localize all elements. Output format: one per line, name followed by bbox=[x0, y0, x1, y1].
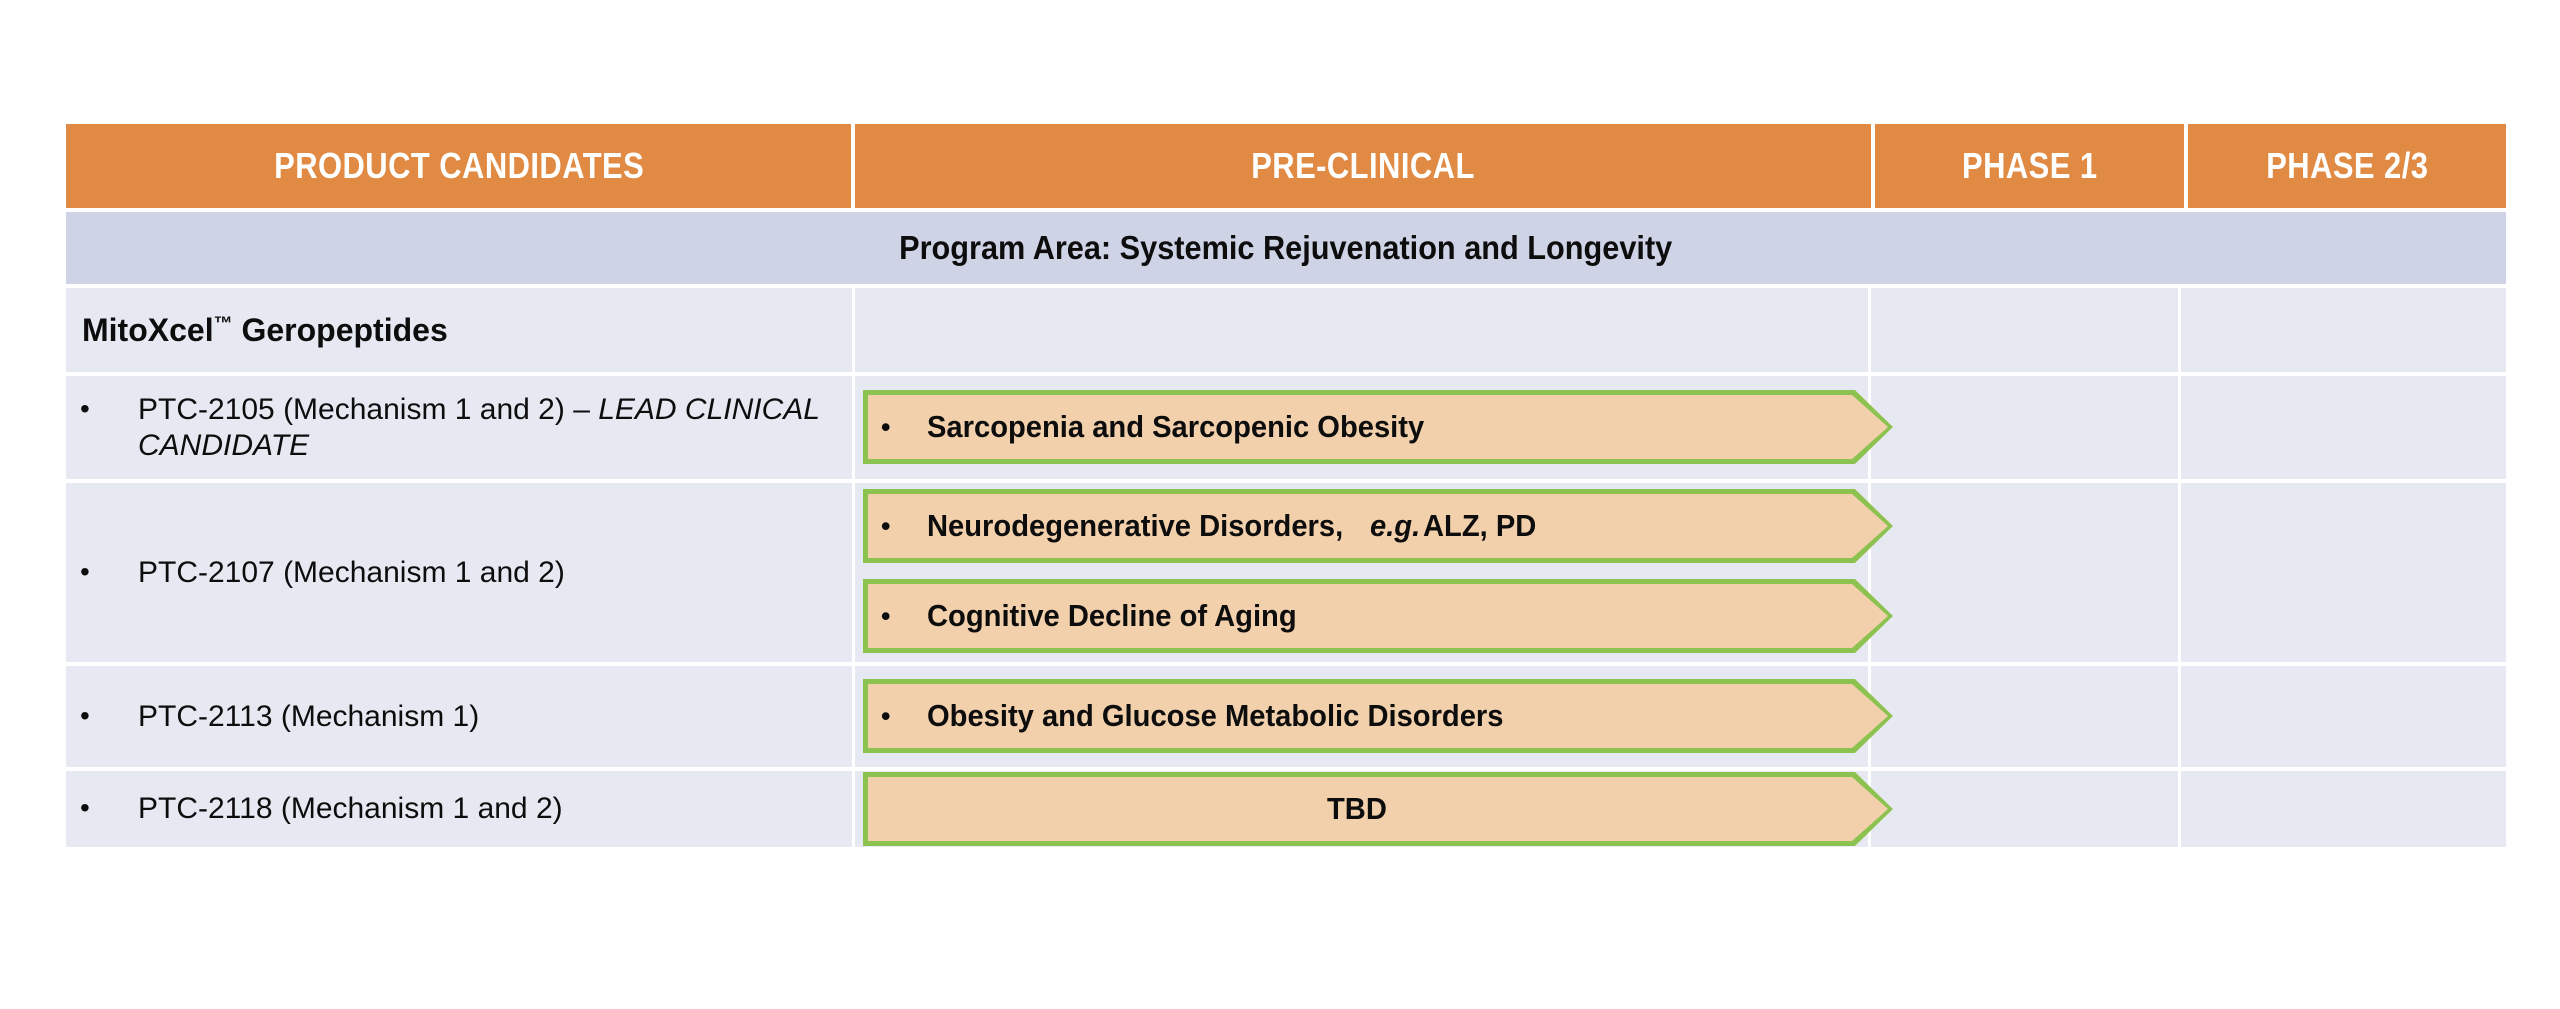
table-header-row: PRODUCT CANDIDATES PRE-CLINICAL PHASE 1 … bbox=[66, 124, 2506, 208]
column-header-pre-clinical[interactable]: PRE-CLINICAL bbox=[855, 124, 1870, 208]
table-row: • PTC-2105 (Mechanism 1 and 2) – LEAD CL… bbox=[66, 376, 2506, 479]
phase1-cell-empty bbox=[1868, 666, 2178, 767]
product-cell-ptc-2118: • PTC-2118 (Mechanism 1 and 2) bbox=[66, 771, 852, 847]
preclinical-cell-ptc-2113: • Obesity and Glucose Metabolic Disorder… bbox=[852, 666, 1868, 767]
milestone-arrow-tbd[interactable]: TBD bbox=[863, 772, 1893, 846]
table-row: • PTC-2118 (Mechanism 1 and 2) TBD bbox=[66, 771, 2506, 847]
pipeline-table: PRODUCT CANDIDATES PRE-CLINICAL PHASE 1 … bbox=[66, 124, 2506, 847]
phase1-cell-empty bbox=[1868, 288, 2178, 372]
preclinical-cell-ptc-2107: • Neurodegenerative Disorders, e.g. ALZ,… bbox=[852, 483, 1868, 662]
table-row: • PTC-2113 (Mechanism 1) • Obesity and G… bbox=[66, 666, 2506, 767]
bullet-icon: • bbox=[80, 699, 138, 733]
bullet-icon: • bbox=[881, 412, 927, 443]
product-cell-family-title: MitoXcel™ Geropeptides bbox=[66, 288, 852, 372]
phase23-cell-empty bbox=[2178, 666, 2496, 767]
product-candidate-plain: PTC-2105 (Mechanism 1 and 2) – bbox=[138, 393, 598, 426]
bullet-icon: • bbox=[80, 555, 138, 589]
column-header-pre-clinical-label: PRE-CLINICAL bbox=[1251, 145, 1475, 187]
table-row: MitoXcel™ Geropeptides bbox=[66, 288, 2506, 372]
milestone-arrow-label: Neurodegenerative Disorders, e.g. ALZ, P… bbox=[927, 508, 1544, 544]
product-bullet-line: • PTC-2113 (Mechanism 1) bbox=[80, 699, 838, 734]
product-family-base: MitoXcel bbox=[82, 312, 214, 348]
column-header-product-candidates-label: PRODUCT CANDIDATES bbox=[274, 145, 644, 187]
phase1-cell-empty bbox=[1868, 376, 2178, 479]
milestone-arrow-label: Cognitive Decline of Aging bbox=[927, 598, 1320, 634]
bullet-icon: • bbox=[881, 701, 927, 732]
product-candidate-label: PTC-2118 (Mechanism 1 and 2) bbox=[138, 791, 838, 826]
product-family-name: MitoXcel™ Geropeptides bbox=[80, 312, 448, 349]
program-area-banner-label: Program Area: Systemic Rejuvenation and … bbox=[899, 229, 1672, 267]
phase23-cell-empty bbox=[2178, 483, 2496, 662]
preclinical-cell-empty bbox=[852, 288, 1868, 372]
phase1-cell-empty bbox=[1868, 771, 2178, 847]
milestone-arrow-label: Obesity and Glucose Metabolic Disorders bbox=[927, 698, 1540, 734]
phase23-cell-empty bbox=[2178, 376, 2496, 479]
program-area-banner: Program Area: Systemic Rejuvenation and … bbox=[66, 212, 2506, 284]
milestone-arrow-label: TBD bbox=[1327, 791, 1391, 827]
column-header-phase-2-3[interactable]: PHASE 2/3 bbox=[2188, 124, 2506, 208]
product-bullet-line: • PTC-2105 (Mechanism 1 and 2) – LEAD CL… bbox=[80, 392, 838, 462]
bullet-icon: • bbox=[881, 511, 927, 542]
column-header-phase-2-3-label: PHASE 2/3 bbox=[2266, 145, 2428, 187]
milestone-arrow-neurodegenerative-disorders[interactable]: • Neurodegenerative Disorders, e.g. ALZ,… bbox=[863, 489, 1893, 563]
milestone-arrow-sarcopenia[interactable]: • Sarcopenia and Sarcopenic Obesity bbox=[863, 390, 1893, 464]
product-candidate-label: PTC-2105 (Mechanism 1 and 2) – LEAD CLIN… bbox=[138, 392, 838, 462]
phase23-cell-empty bbox=[2178, 771, 2496, 847]
phase23-cell-empty bbox=[2178, 288, 2496, 372]
product-cell-ptc-2105: • PTC-2105 (Mechanism 1 and 2) – LEAD CL… bbox=[66, 376, 852, 479]
preclinical-cell-ptc-2105: • Sarcopenia and Sarcopenic Obesity bbox=[852, 376, 1868, 479]
bullet-icon: • bbox=[80, 791, 138, 825]
column-header-product-candidates[interactable]: PRODUCT CANDIDATES bbox=[66, 124, 851, 208]
trademark-icon: ™ bbox=[214, 313, 233, 334]
milestone-arrow-obesity-glucose-metabolic-disorders[interactable]: • Obesity and Glucose Metabolic Disorder… bbox=[863, 679, 1893, 753]
column-header-phase-1-label: PHASE 1 bbox=[1962, 145, 2098, 187]
phase1-cell-empty bbox=[1868, 483, 2178, 662]
product-bullet-line: • PTC-2118 (Mechanism 1 and 2) bbox=[80, 791, 838, 826]
table-row: • PTC-2107 (Mechanism 1 and 2) • Neurode… bbox=[66, 483, 2506, 662]
product-bullet-line: • PTC-2107 (Mechanism 1 and 2) bbox=[80, 555, 838, 590]
product-family-suffix: Geropeptides bbox=[233, 312, 448, 348]
bullet-icon: • bbox=[881, 601, 927, 632]
product-candidate-label: PTC-2113 (Mechanism 1) bbox=[138, 699, 838, 734]
product-cell-ptc-2113: • PTC-2113 (Mechanism 1) bbox=[66, 666, 852, 767]
product-cell-ptc-2107: • PTC-2107 (Mechanism 1 and 2) bbox=[66, 483, 852, 662]
column-header-phase-1[interactable]: PHASE 1 bbox=[1875, 124, 2185, 208]
bullet-icon: • bbox=[80, 392, 138, 426]
milestone-arrow-cognitive-decline-of-aging[interactable]: • Cognitive Decline of Aging bbox=[863, 579, 1893, 653]
milestone-arrow-label: Sarcopenia and Sarcopenic Obesity bbox=[927, 409, 1456, 445]
product-candidate-label: PTC-2107 (Mechanism 1 and 2) bbox=[138, 555, 838, 590]
preclinical-cell-ptc-2118: TBD bbox=[852, 771, 1868, 847]
